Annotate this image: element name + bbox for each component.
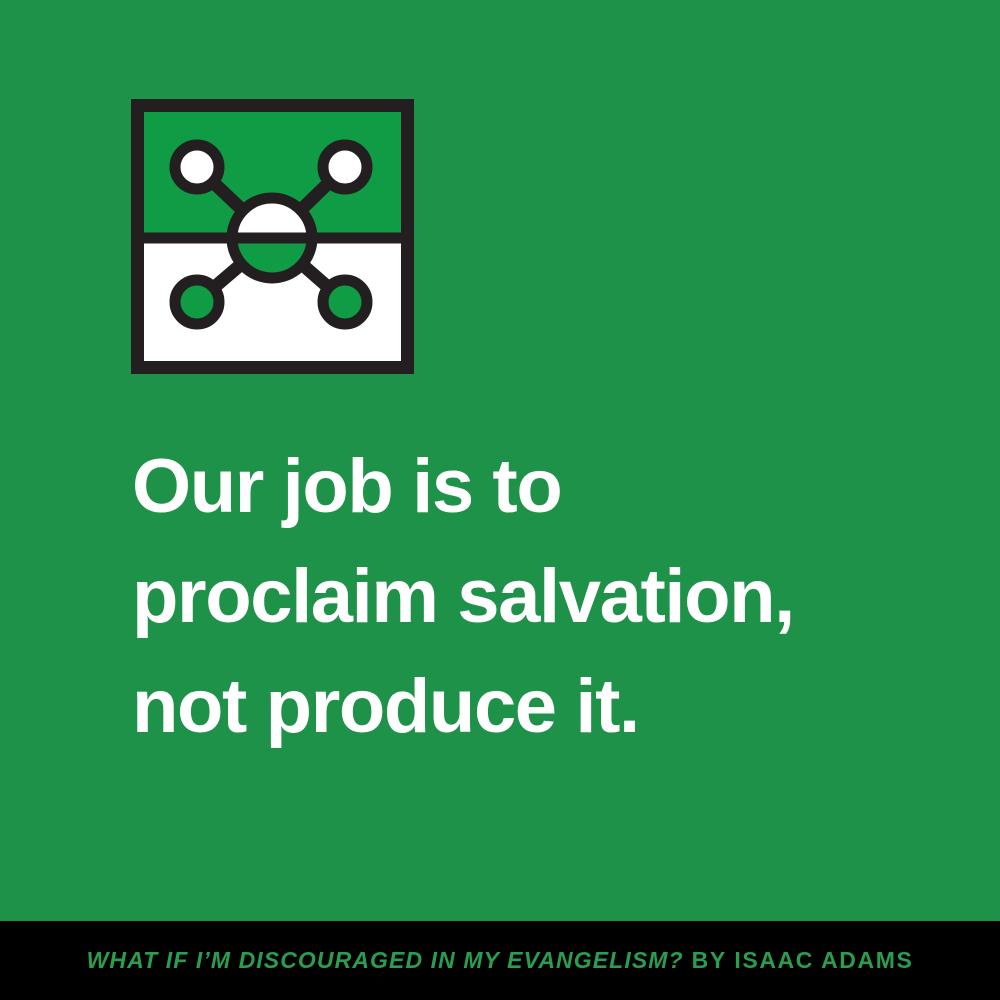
- icon-node-top-right: [323, 145, 367, 189]
- icon-node-bottom-left: [175, 280, 219, 324]
- quote-line-3: not produce it.: [132, 652, 952, 762]
- icon-node-top-left: [175, 145, 219, 189]
- banner-text-row: WHAT IF I’M DISCOURAGED IN MY EVANGELISM…: [0, 921, 1000, 1000]
- network-nodes-icon: [131, 99, 414, 374]
- quote-card: Our job is to proclaim salvation, not pr…: [0, 0, 1000, 1000]
- banner-book-title: WHAT IF I’M DISCOURAGED IN MY EVANGELISM…: [87, 947, 684, 974]
- quote-line-1: Our job is to: [132, 432, 952, 542]
- quote-line-2: proclaim salvation,: [132, 542, 952, 652]
- banner-author: BY ISAAC ADAMS: [692, 947, 914, 974]
- icon-node-bottom-right: [323, 280, 367, 324]
- bottom-banner: WHAT IF I’M DISCOURAGED IN MY EVANGELISM…: [0, 921, 1000, 1000]
- quote-text-block: Our job is to proclaim salvation, not pr…: [132, 432, 952, 762]
